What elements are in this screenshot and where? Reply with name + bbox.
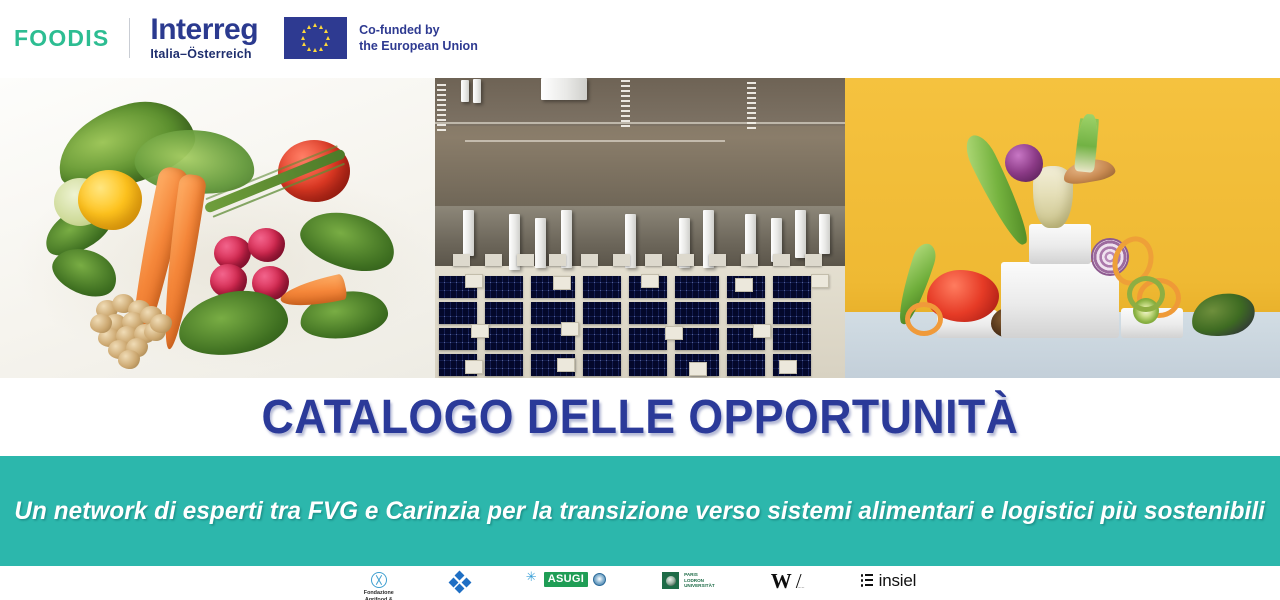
solar-panel-array	[773, 328, 811, 350]
partner-logo-diamond	[450, 572, 470, 600]
semi-trailer	[819, 214, 830, 254]
crosswalk-stripe	[747, 82, 756, 84]
partner-mark-row: insiel	[861, 572, 917, 589]
hero-image-strip	[0, 78, 1280, 378]
solar-panel-array	[629, 354, 667, 376]
solar-panel-array	[583, 276, 621, 298]
crosswalk-stripe	[621, 100, 630, 102]
solar-panel-array	[531, 302, 575, 324]
rooftop-unit	[753, 324, 771, 338]
interreg-programme-label: Italia–Österreich	[150, 48, 258, 61]
dock-bay-bumper	[517, 254, 534, 266]
eu-star-icon	[319, 25, 323, 29]
rooftop-unit	[665, 326, 683, 340]
crosswalk-stripe	[621, 95, 630, 97]
hero-panel-fresh-produce	[0, 78, 435, 378]
crosswalk-stripe	[747, 112, 756, 114]
dock-bay-bumper	[485, 254, 502, 266]
solar-panel-array	[727, 354, 765, 376]
partner-mark-row	[450, 572, 470, 592]
hero-panel-food-waste	[845, 78, 1280, 378]
rooftop-unit	[689, 362, 707, 376]
partner-logo-insiel: insiel	[861, 572, 917, 600]
carrot-peel-curl	[905, 302, 943, 336]
solar-panel-array	[629, 328, 667, 350]
crosswalk-stripe	[437, 99, 446, 101]
eu-star-icon	[319, 47, 323, 51]
dock-bay-bumper	[773, 254, 790, 266]
eu-star-icon	[307, 47, 311, 51]
crosswalk-stripe	[621, 120, 630, 122]
solar-panel-array	[773, 302, 811, 324]
crosswalk-stripe	[621, 115, 630, 117]
partner-caption: PARIS LODRON UNIVERSITÄT	[684, 572, 715, 589]
crosswalk-stripe	[747, 102, 756, 104]
yard-upper-area	[435, 78, 845, 126]
crosswalk-stripe	[747, 107, 756, 109]
dock-bay-bumper	[453, 254, 470, 266]
crosswalk-stripe	[621, 105, 630, 107]
insiel-bars-icon	[861, 573, 874, 588]
crosswalk-stripe	[747, 127, 756, 129]
crosswalk-stripe	[747, 87, 756, 89]
solar-panel-array	[727, 302, 765, 324]
crosswalk-stripe	[437, 124, 446, 126]
rooftop-unit	[553, 276, 571, 290]
dock-bay-bumper	[741, 254, 758, 266]
crosswalk-stripe	[437, 89, 446, 91]
partner-logo-paris-lodron: PARIS LODRON UNIVERSITÄT	[662, 572, 715, 600]
rooftop-unit	[465, 360, 483, 374]
rooftop-unit	[471, 324, 489, 338]
eu-star-icon	[324, 29, 328, 33]
partner-mark-row	[371, 572, 387, 588]
eu-star-icon	[301, 36, 305, 40]
solar-panel-array	[485, 354, 523, 376]
w-letter-icon: W	[771, 572, 792, 591]
subtitle-text: Un network di esperti tra FVG e Carinzia…	[0, 497, 1280, 526]
dock-bay-bumper	[581, 254, 598, 266]
rooftop-unit	[561, 322, 579, 336]
podium-top	[1029, 224, 1091, 264]
dock-bay-bumper	[645, 254, 662, 266]
page-title: CATALOGO DELLE OPPORTUNITÀ	[262, 390, 1019, 445]
poster-page: FOODIS Interreg Italia–Österreich Co-fun…	[0, 0, 1280, 600]
rooftop-unit	[811, 274, 829, 288]
insiel-wordmark: insiel	[879, 572, 917, 589]
crosswalk-stripe	[621, 85, 630, 87]
crosswalk-stripe	[437, 84, 446, 86]
european-union-flag-icon	[284, 17, 347, 59]
partner-logo-w: W / .....	[771, 572, 805, 600]
partner-mark-row: W / .....	[771, 572, 805, 591]
partner-caption: Fondazione Agrifood &	[364, 590, 394, 600]
subtitle-band: Un network di esperti tra FVG e Carinzia…	[0, 456, 1280, 566]
crest-icon	[593, 573, 606, 586]
header-logo-bar: FOODIS Interreg Italia–Österreich Co-fun…	[0, 0, 1280, 76]
solar-panel-array	[583, 302, 621, 324]
eu-star-icon	[307, 25, 311, 29]
partner-logo-band: Fondazione Agrifood & ASUGI PARIS LODRON…	[0, 566, 1280, 600]
solar-panel-array	[675, 302, 719, 324]
rooftop-unit	[641, 274, 659, 288]
semi-trailer	[535, 218, 546, 268]
eu-star-icon	[302, 29, 306, 33]
crosswalk-stripe	[747, 97, 756, 99]
solar-panel-array	[485, 328, 523, 350]
yard-lane-marking	[435, 122, 845, 124]
eu-funding-text: Co-funded by the European Union	[359, 22, 478, 54]
crosswalk-stripe	[621, 125, 630, 127]
solar-panel-array	[773, 276, 811, 298]
parked-trailer	[461, 80, 469, 102]
logo-divider	[129, 18, 130, 58]
partner-mark-row: PARIS LODRON UNIVERSITÄT	[662, 572, 715, 589]
interreg-logo: Interreg Italia–Österreich	[150, 15, 284, 61]
rooftop-unit	[735, 278, 753, 292]
solar-panel-array	[485, 302, 523, 324]
dock-bay-bumper	[709, 254, 726, 266]
foodis-logo: FOODIS	[14, 27, 129, 50]
crosswalk-stripe	[437, 119, 446, 121]
rooftop-unit	[779, 360, 797, 374]
crosswalk-stripe	[437, 104, 446, 106]
crosswalk-stripe	[621, 110, 630, 112]
partner-logo-fondazione-agrifood: Fondazione Agrifood &	[364, 572, 394, 600]
eu-star-icon	[313, 23, 317, 27]
rooftop-unit	[465, 274, 483, 288]
w-subtext: .....	[798, 584, 805, 589]
leaf-decor	[294, 200, 402, 281]
parked-trailer	[473, 79, 481, 103]
yellow-pepper	[78, 170, 142, 230]
crosswalk-stripe	[621, 80, 630, 82]
parked-trailer	[541, 78, 587, 100]
partner-mark-row: ASUGI	[526, 572, 606, 587]
dock-bay-bumper	[549, 254, 566, 266]
leaf-icon	[526, 573, 539, 586]
eu-star-icon	[324, 42, 328, 46]
dock-bay-bumper	[805, 254, 822, 266]
dock-bay-bumper	[677, 254, 694, 266]
rooftop-unit	[557, 358, 575, 372]
crest-icon	[662, 572, 679, 589]
solar-panel-array	[629, 302, 667, 324]
green-peel-curl	[1127, 276, 1165, 312]
eu-star-icon	[302, 42, 306, 46]
solar-panel-array	[583, 328, 621, 350]
dock-bay-bumper	[613, 254, 630, 266]
crosswalk-stripe	[747, 92, 756, 94]
crosswalk-stripe	[747, 117, 756, 119]
crosswalk-stripe	[437, 94, 446, 96]
circle-emblem-icon	[371, 572, 387, 588]
asugi-wordmark: ASUGI	[544, 572, 588, 587]
solar-panel-array	[485, 276, 523, 298]
eu-star-icon	[326, 36, 330, 40]
crosswalk-stripe	[747, 122, 756, 124]
crosswalk-stripe	[437, 114, 446, 116]
crosswalk-stripe	[437, 129, 446, 131]
solar-panel-array	[439, 302, 477, 324]
title-band: CATALOGO DELLE OPPORTUNITÀ	[0, 378, 1280, 456]
diamond-cluster-icon	[450, 572, 470, 592]
semi-trailer	[463, 210, 474, 256]
interreg-wordmark: Interreg	[150, 15, 258, 45]
hero-panel-logistics	[435, 78, 845, 378]
partner-logo-asugi: ASUGI	[526, 572, 606, 600]
raspberry	[248, 228, 285, 262]
walnut	[118, 350, 140, 369]
eu-cofunding-logo: Co-funded by the European Union	[284, 17, 478, 59]
eu-star-icon	[313, 48, 317, 52]
crosswalk-stripe	[621, 90, 630, 92]
walnut	[90, 314, 112, 333]
yard-lane-marking	[465, 140, 725, 142]
walnut	[150, 314, 172, 333]
crosswalk-stripe	[437, 109, 446, 111]
semi-trailer	[795, 210, 806, 258]
solar-panel-array	[675, 276, 719, 298]
solar-panel-array	[583, 354, 621, 376]
red-onion	[1005, 144, 1043, 182]
